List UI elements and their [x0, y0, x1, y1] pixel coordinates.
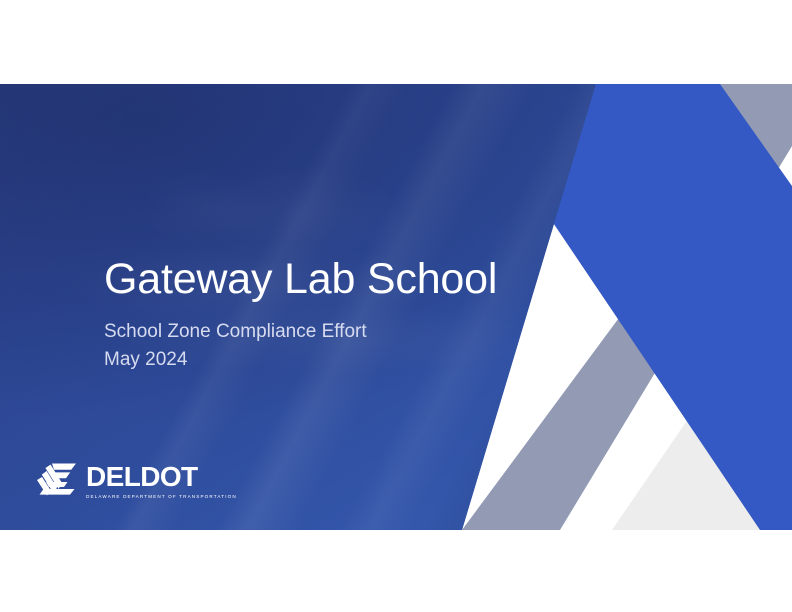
deldot-wordmark: DELDOT: [86, 463, 237, 491]
page-title: Gateway Lab School: [104, 254, 574, 304]
title-text-block: Gateway Lab School School Zone Complianc…: [104, 254, 574, 374]
slide-subtitle: School Zone Compliance Effort: [104, 318, 574, 346]
slide-page: Gateway Lab School School Zone Complianc…: [0, 0, 792, 612]
deldot-logo: DELDOT DELAWARE DEPARTMENT OF TRANSPORTA…: [33, 462, 237, 500]
slide-date: May 2024: [104, 346, 574, 374]
deldot-tagline: DELAWARE DEPARTMENT OF TRANSPORTATION: [86, 493, 237, 500]
deldot-triangle-logo-icon: [33, 462, 79, 500]
title-slide: Gateway Lab School School Zone Complianc…: [0, 84, 792, 530]
deldot-logo-text: DELDOT DELAWARE DEPARTMENT OF TRANSPORTA…: [86, 463, 237, 500]
